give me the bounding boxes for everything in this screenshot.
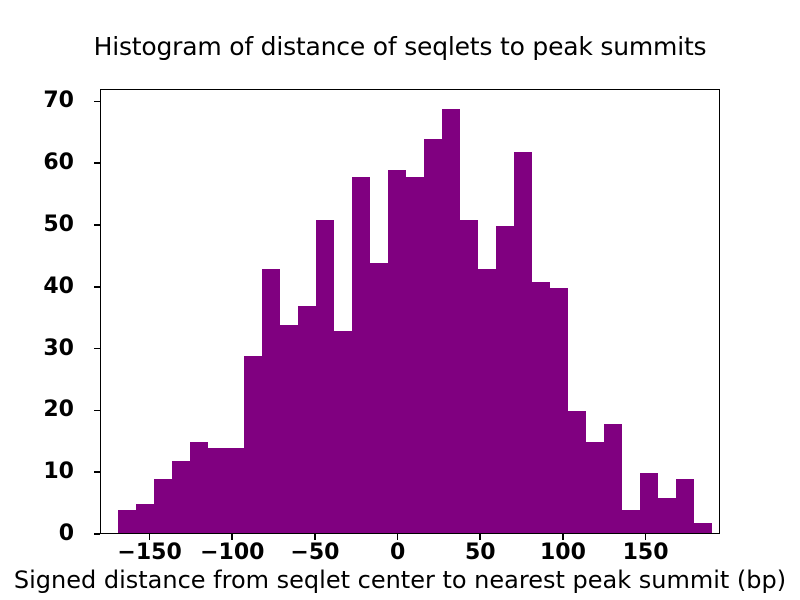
histogram-bar — [370, 263, 388, 534]
histogram-bar — [514, 152, 532, 534]
histogram-bar — [568, 411, 586, 534]
y-axis-tick-label: 20 — [0, 399, 74, 421]
histogram-bar — [460, 220, 478, 534]
y-axis-tick-label: 50 — [0, 214, 74, 236]
y-axis-tick — [94, 224, 100, 226]
histogram-bar — [658, 498, 676, 534]
histogram-bar — [424, 139, 442, 534]
histogram-bar — [136, 504, 154, 534]
histogram-bar — [496, 226, 514, 534]
histogram-bar — [280, 325, 298, 534]
histogram-bar — [442, 109, 460, 534]
histogram-bar — [244, 356, 262, 534]
histogram-bar — [406, 177, 424, 534]
histogram-bar — [262, 269, 280, 534]
plot-area — [100, 89, 720, 534]
y-axis-tick-label: 40 — [0, 276, 74, 298]
histogram-bar — [478, 269, 496, 534]
y-axis-tick-label: 70 — [0, 90, 74, 112]
histogram-figure: Histogram of distance of seqlets to peak… — [0, 0, 800, 600]
histogram-bar — [622, 510, 640, 534]
y-axis-tick-label: 10 — [0, 461, 74, 483]
y-axis-tick — [94, 471, 100, 473]
histogram-bar — [172, 461, 190, 534]
histogram-bars — [101, 90, 720, 534]
histogram-bar — [334, 331, 352, 534]
histogram-bar — [694, 523, 712, 534]
y-axis-tick — [94, 348, 100, 350]
histogram-bar — [586, 442, 604, 534]
y-axis-tick — [94, 410, 100, 412]
histogram-bar — [154, 479, 172, 534]
x-axis-label: Signed distance from seqlet center to ne… — [0, 566, 800, 594]
y-axis-tick-label: 30 — [0, 338, 74, 360]
y-axis-tick-label: 60 — [0, 152, 74, 174]
histogram-bar — [208, 448, 226, 534]
histogram-bar — [388, 170, 406, 534]
histogram-bar — [640, 473, 658, 534]
histogram-bar — [190, 442, 208, 534]
histogram-bar — [352, 177, 370, 534]
histogram-bar — [226, 448, 244, 534]
histogram-bar — [676, 479, 694, 534]
x-axis-tick-label: 150 — [586, 542, 706, 564]
histogram-bar — [550, 288, 568, 534]
y-axis-tick-label: 0 — [0, 523, 74, 545]
histogram-bar — [532, 282, 550, 534]
y-axis-tick — [94, 533, 100, 535]
histogram-bar — [604, 424, 622, 534]
histogram-bar — [298, 306, 316, 534]
chart-title: Histogram of distance of seqlets to peak… — [0, 32, 800, 61]
histogram-bar — [316, 220, 334, 534]
histogram-bar — [118, 510, 136, 534]
y-axis-tick — [94, 286, 100, 288]
y-axis-tick — [94, 101, 100, 103]
y-axis-tick — [94, 162, 100, 164]
